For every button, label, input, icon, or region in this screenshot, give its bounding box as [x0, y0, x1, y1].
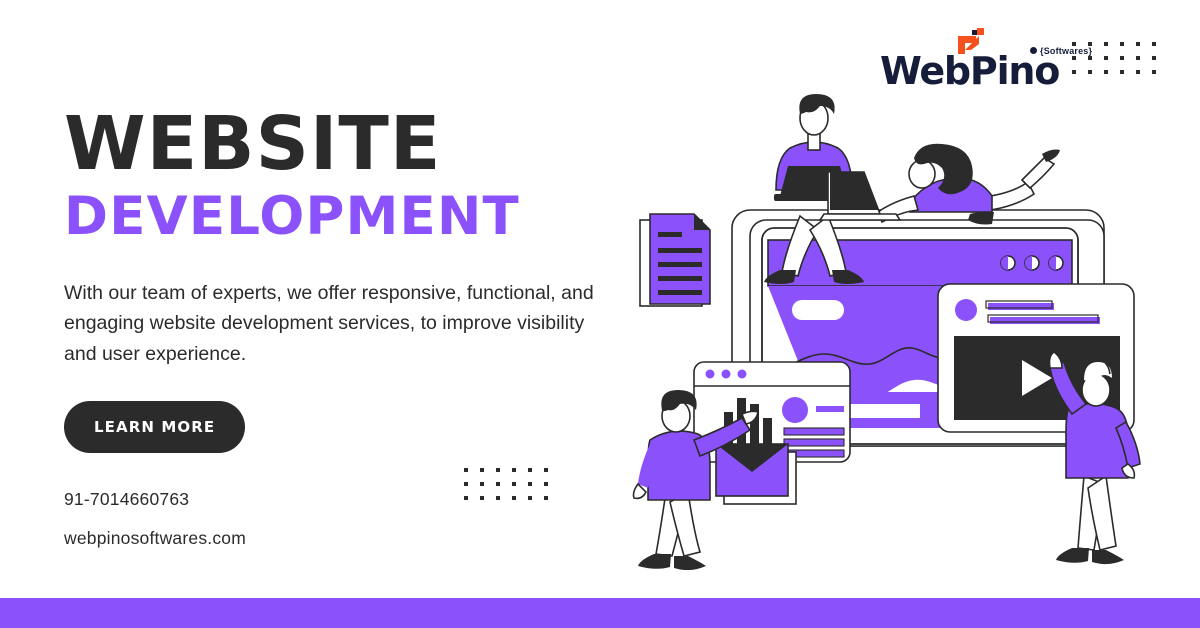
- dot-grid-decoration-top: [1072, 42, 1168, 84]
- dot: [1072, 70, 1076, 74]
- dot: [1136, 70, 1140, 74]
- dot: [1072, 56, 1076, 60]
- hero-description: With our team of experts, we offer respo…: [64, 278, 594, 369]
- dot-grid-decoration-middle: [464, 468, 560, 510]
- envelope-icon: [716, 444, 796, 504]
- page-title: WEBSITE: [64, 108, 604, 181]
- website-development-illustration: .pp { fill:#8B51FB; } .dk { fill:#2B2B2B…: [632, 92, 1184, 570]
- logo-tagline-dot: [1030, 47, 1037, 54]
- page-subtitle: DEVELOPMENT: [64, 189, 604, 245]
- dot: [480, 468, 484, 472]
- dot: [544, 482, 548, 486]
- dot: [464, 496, 468, 500]
- dot: [1120, 56, 1124, 60]
- dot: [1136, 42, 1140, 46]
- dot: [1104, 42, 1108, 46]
- dot: [528, 482, 532, 486]
- window-controls: [1001, 256, 1063, 270]
- arrow-up-right-icon: [958, 28, 984, 54]
- dot: [1152, 56, 1156, 60]
- dot: [512, 482, 516, 486]
- dot: [512, 468, 516, 472]
- dot: [496, 496, 500, 500]
- dot: [1072, 42, 1076, 46]
- dot: [1088, 70, 1092, 74]
- dot: [1088, 42, 1092, 46]
- logo-wordmark: WebPino: [880, 52, 1059, 90]
- dot: [1120, 70, 1124, 74]
- banner-root: WebPino {Softwares} WEBSITE DEVELOPMENT …: [0, 0, 1200, 628]
- dot: [1152, 70, 1156, 74]
- dot: [496, 468, 500, 472]
- dot: [464, 482, 468, 486]
- dot: [1104, 70, 1108, 74]
- dot: [480, 496, 484, 500]
- dot: [1104, 56, 1108, 60]
- dot: [1088, 56, 1092, 60]
- learn-more-button[interactable]: LEARN MORE: [64, 401, 245, 453]
- dot: [480, 482, 484, 486]
- dot: [528, 496, 532, 500]
- dot: [1136, 56, 1140, 60]
- dot: [496, 482, 500, 486]
- footer-accent-bar: [0, 598, 1200, 628]
- dot: [544, 496, 548, 500]
- dot: [464, 468, 468, 472]
- dot: [544, 468, 548, 472]
- website-url[interactable]: webpinosoftwares.com: [64, 528, 604, 549]
- logo-mark: WebPino {Softwares}: [880, 28, 1059, 90]
- dot: [1152, 42, 1156, 46]
- dot: [512, 496, 516, 500]
- dot: [528, 468, 532, 472]
- document-icon: [640, 214, 710, 306]
- dot: [1120, 42, 1124, 46]
